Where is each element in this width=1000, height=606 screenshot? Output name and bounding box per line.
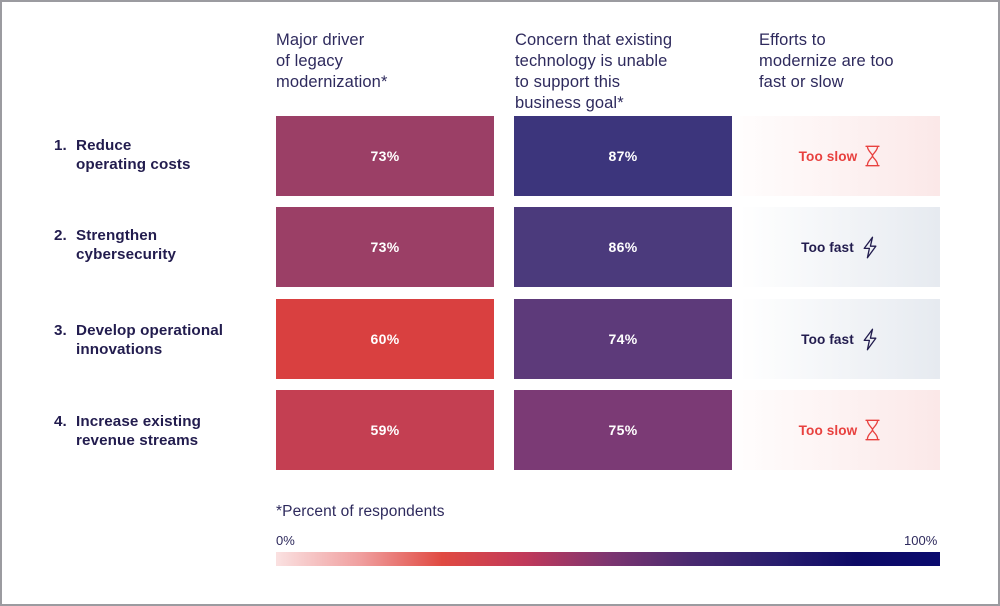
row-label-1: 1. Reduce operating costs (54, 136, 269, 174)
cell-concern-2: 86% (514, 207, 732, 287)
infographic-canvas: Major driver of legacy modernization* Co… (0, 0, 1000, 606)
cell-concern-1: 87% (514, 116, 732, 196)
column-header-concern: Concern that existing technology is unab… (515, 30, 735, 114)
cell-value-driver-1: 73% (371, 148, 400, 164)
cell-driver-3: 60% (276, 299, 494, 379)
cell-pace-1: Too slow (740, 116, 940, 196)
cell-driver-2: 73% (276, 207, 494, 287)
pace-label-1: Too slow (799, 149, 858, 164)
lightning-bolt-icon (861, 328, 879, 351)
cell-value-concern-2: 86% (609, 239, 638, 255)
colorbar-min-label: 0% (276, 533, 295, 548)
row-label-4: 4. Increase existing revenue streams (54, 412, 269, 450)
row-title-4: Increase existing revenue streams (76, 412, 269, 450)
column-header-driver: Major driver of legacy modernization* (276, 30, 501, 93)
row-rank-4: 4. (54, 412, 76, 431)
hourglass-icon (864, 419, 881, 441)
hourglass-icon (864, 145, 881, 167)
pace-indicator-4: Too slow (799, 419, 882, 441)
row-title-3: Develop operational innovations (76, 321, 269, 359)
row-title-1: Reduce operating costs (76, 136, 269, 174)
row-rank-3: 3. (54, 321, 76, 340)
cell-pace-2: Too fast (740, 207, 940, 287)
column-header-pace: Efforts to modernize are too fast or slo… (759, 30, 944, 93)
colorbar-max-label: 100% (904, 533, 937, 548)
row-rank-1: 1. (54, 136, 76, 155)
cell-value-concern-1: 87% (609, 148, 638, 164)
cell-pace-4: Too slow (740, 390, 940, 470)
row-label-2: 2. Strengthen cybersecurity (54, 226, 269, 264)
pace-label-2: Too fast (801, 240, 854, 255)
lightning-bolt-icon (861, 236, 879, 259)
pace-label-4: Too slow (799, 423, 858, 438)
pace-indicator-1: Too slow (799, 145, 882, 167)
colorbar-gradient (276, 552, 940, 566)
cell-driver-4: 59% (276, 390, 494, 470)
row-rank-2: 2. (54, 226, 76, 245)
pace-indicator-3: Too fast (801, 328, 879, 351)
row-title-2: Strengthen cybersecurity (76, 226, 269, 264)
cell-value-concern-4: 75% (609, 422, 638, 438)
legend-footnote: *Percent of respondents (276, 503, 445, 521)
cell-pace-3: Too fast (740, 299, 940, 379)
cell-value-driver-3: 60% (371, 331, 400, 347)
pace-label-3: Too fast (801, 332, 854, 347)
row-label-3: 3. Develop operational innovations (54, 321, 269, 359)
cell-value-driver-4: 59% (371, 422, 400, 438)
cell-value-concern-3: 74% (609, 331, 638, 347)
pace-indicator-2: Too fast (801, 236, 879, 259)
cell-driver-1: 73% (276, 116, 494, 196)
cell-value-driver-2: 73% (371, 239, 400, 255)
cell-concern-3: 74% (514, 299, 732, 379)
cell-concern-4: 75% (514, 390, 732, 470)
